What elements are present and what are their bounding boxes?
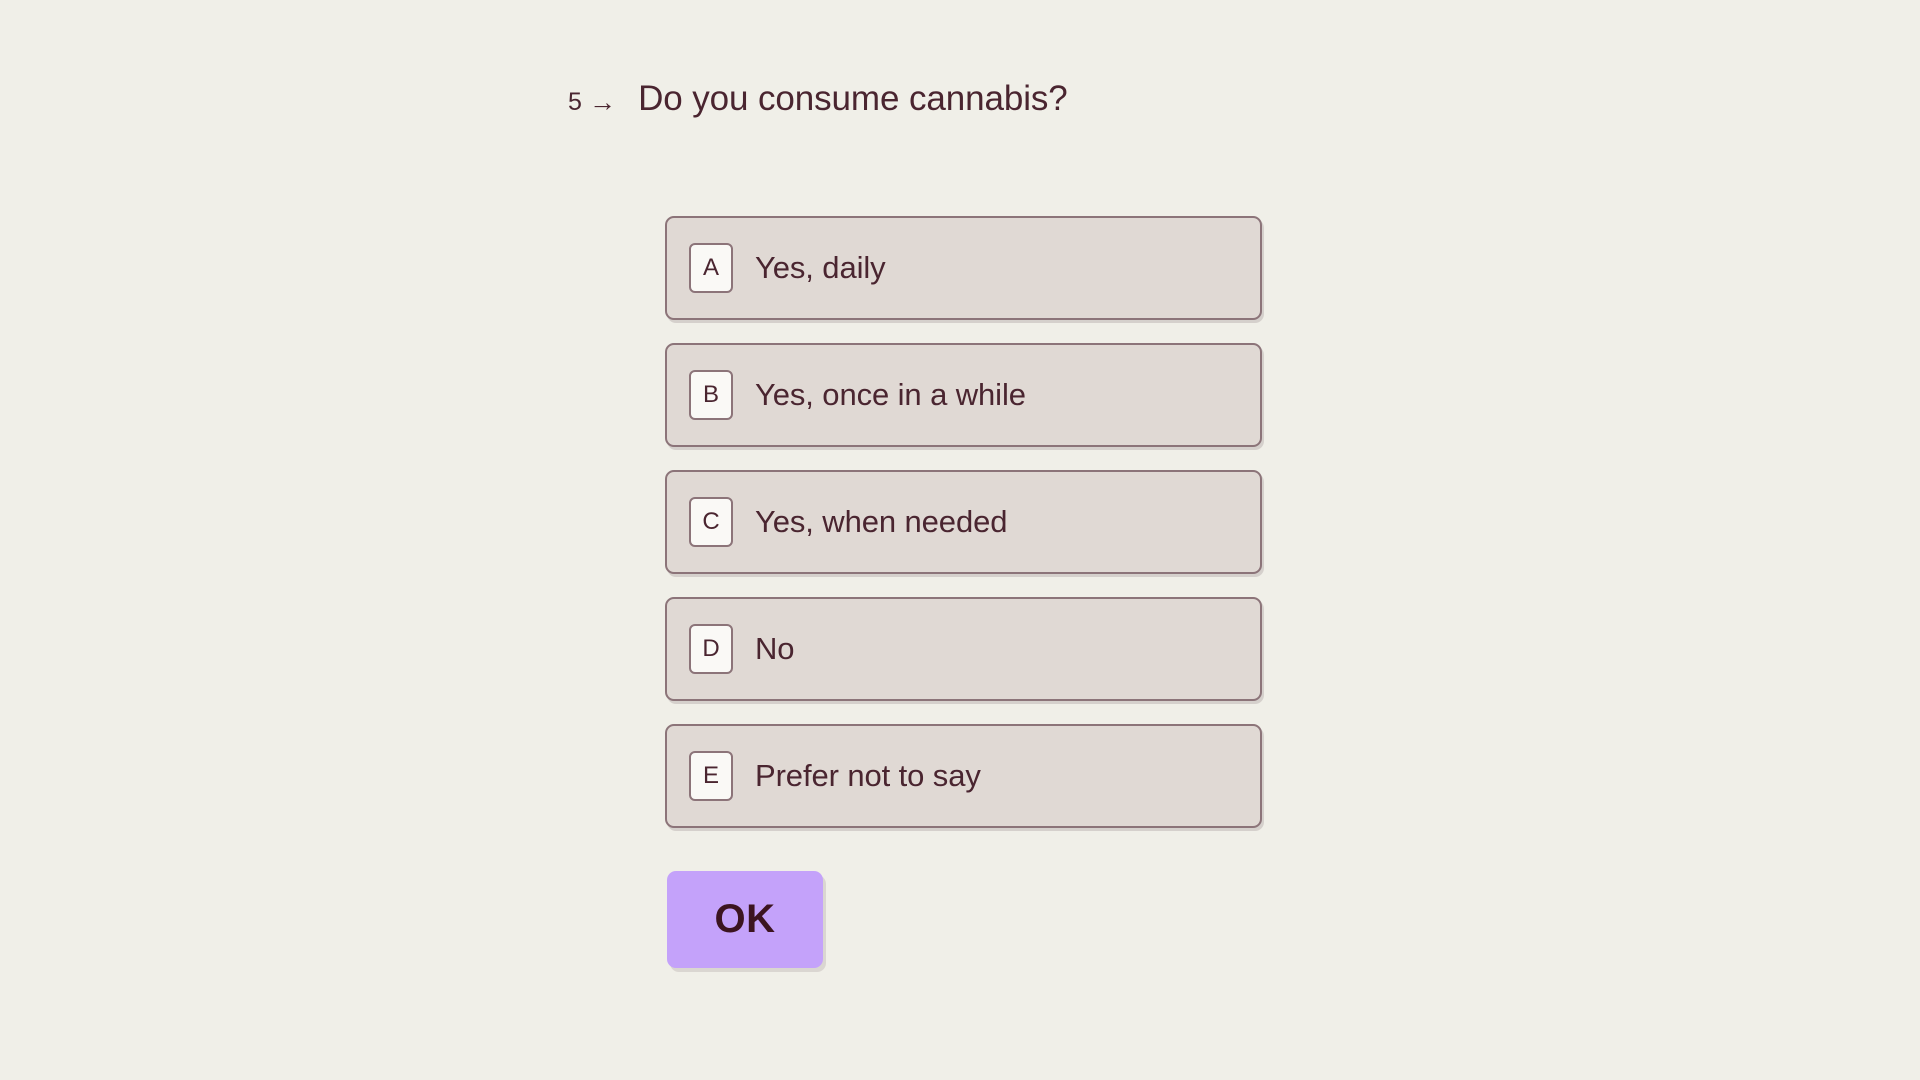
option-e-label: Prefer not to say	[755, 759, 981, 793]
option-a[interactable]: A Yes, daily	[665, 216, 1262, 320]
ok-submit-button[interactable]: OK	[667, 871, 823, 968]
arrow-right-icon: →	[589, 89, 616, 116]
option-c[interactable]: C Yes, when needed	[665, 470, 1262, 574]
question-text: Do you consume cannabis?	[638, 78, 1068, 120]
option-d-key-badge: D	[689, 624, 733, 674]
option-e[interactable]: E Prefer not to say	[665, 724, 1262, 828]
option-c-label: Yes, when needed	[755, 505, 1007, 539]
option-b-key-badge: B	[689, 370, 733, 420]
question-heading: 5 → Do you consume cannabis?	[568, 78, 1068, 120]
option-c-key-badge: C	[689, 497, 733, 547]
survey-question-screen: 5 → Do you consume cannabis? A Yes, dail…	[0, 0, 1920, 1080]
option-d-label: No	[755, 632, 794, 666]
question-number: 5	[568, 90, 582, 115]
option-b[interactable]: B Yes, once in a while	[665, 343, 1262, 447]
option-d[interactable]: D No	[665, 597, 1262, 701]
answer-options-list: A Yes, daily B Yes, once in a while C Ye…	[665, 216, 1262, 851]
option-b-label: Yes, once in a while	[755, 378, 1026, 412]
option-e-key-badge: E	[689, 751, 733, 801]
option-a-label: Yes, daily	[755, 251, 886, 285]
option-a-key-badge: A	[689, 243, 733, 293]
